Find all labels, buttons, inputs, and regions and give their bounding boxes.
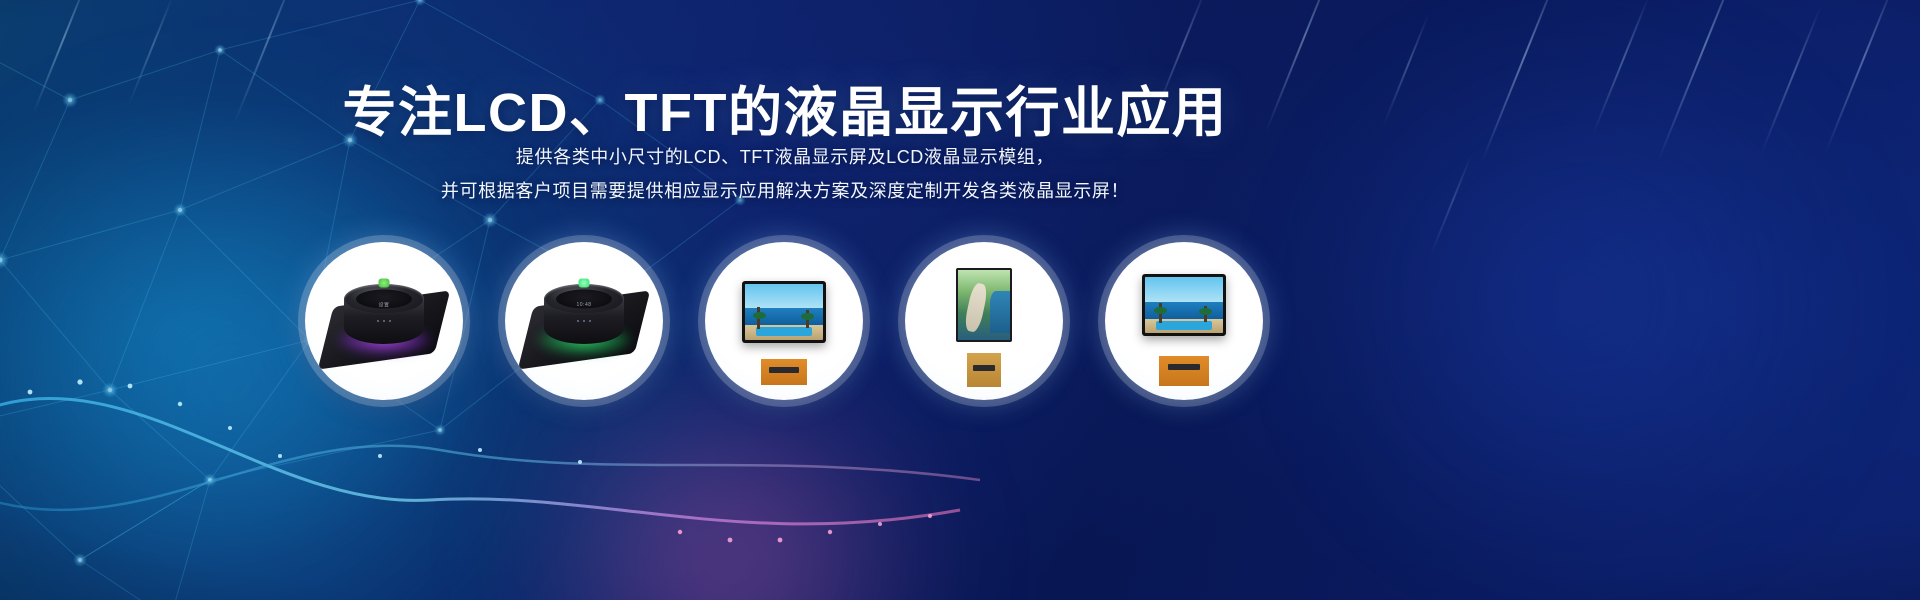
- product-circle-smart-speaker-purple[interactable]: 设置: [305, 242, 463, 400]
- image-pool: [756, 327, 812, 336]
- lcd-screen-image: [958, 270, 1010, 340]
- banner-content: 专注LCD、TFT的液晶显示行业应用 提供各类中小尺寸的LCD、TFT液晶显示屏…: [0, 0, 1920, 600]
- product-circle-tft-lcd-beach-display[interactable]: [705, 242, 863, 400]
- product-image-tft-lcd-landscape-module: [905, 242, 1063, 400]
- product-image-smart-speaker-purple: 设置: [305, 242, 463, 400]
- image-palm-leaf: [1154, 307, 1167, 314]
- image-palm-leaf: [753, 312, 766, 319]
- driver-ic: [973, 365, 995, 371]
- image-sky: [1145, 277, 1223, 302]
- product-image-tft-lcd-beach-display: [705, 242, 863, 400]
- product-circle-tft-lcd-landscape-module[interactable]: [905, 242, 1063, 400]
- driver-ic: [1168, 364, 1200, 370]
- driver-ic: [769, 367, 799, 373]
- app-icon: [579, 279, 590, 288]
- page-title: 专注LCD、TFT的液晶显示行业应用: [0, 68, 1570, 147]
- lcd-panel: [742, 281, 826, 343]
- product-showcase: 设置 10:48: [305, 242, 1265, 402]
- device-screen-label: 10:48: [576, 302, 591, 308]
- product-image-tft-lcd-beach-module: [1105, 242, 1263, 400]
- image-road: [963, 282, 988, 333]
- device-screen-label: 设置: [378, 302, 389, 309]
- product-circle-smart-speaker-green[interactable]: 10:48: [505, 242, 663, 400]
- subtitle-line-1: 提供各类中小尺寸的LCD、TFT液晶显示屏及LCD液晶显示模组，: [0, 143, 1570, 169]
- fpc-ribbon-cable: [1159, 356, 1209, 386]
- lcd-screen-image: [1145, 277, 1223, 333]
- product-circle-tft-lcd-beach-module[interactable]: [1105, 242, 1263, 400]
- lcd-screen-image: [745, 284, 823, 340]
- image-sky: [745, 284, 823, 309]
- image-water: [990, 291, 1010, 333]
- lcd-panel-vertical: [956, 268, 1012, 342]
- device-indicator-dots: [377, 320, 391, 322]
- image-palm-leaf: [801, 313, 814, 320]
- app-icon: [379, 279, 390, 288]
- image-pool: [1156, 321, 1212, 330]
- hero-banner: 专注LCD、TFT的液晶显示行业应用 提供各类中小尺寸的LCD、TFT液晶显示屏…: [0, 0, 1920, 600]
- device-indicator-dots: [577, 320, 591, 322]
- lcd-panel: [1142, 274, 1226, 336]
- product-image-smart-speaker-green: 10:48: [505, 242, 663, 400]
- subtitle-line-2: 并可根据客户项目需要提供相应显示应用解决方案及深度定制开发各类液晶显示屏！: [0, 177, 1570, 203]
